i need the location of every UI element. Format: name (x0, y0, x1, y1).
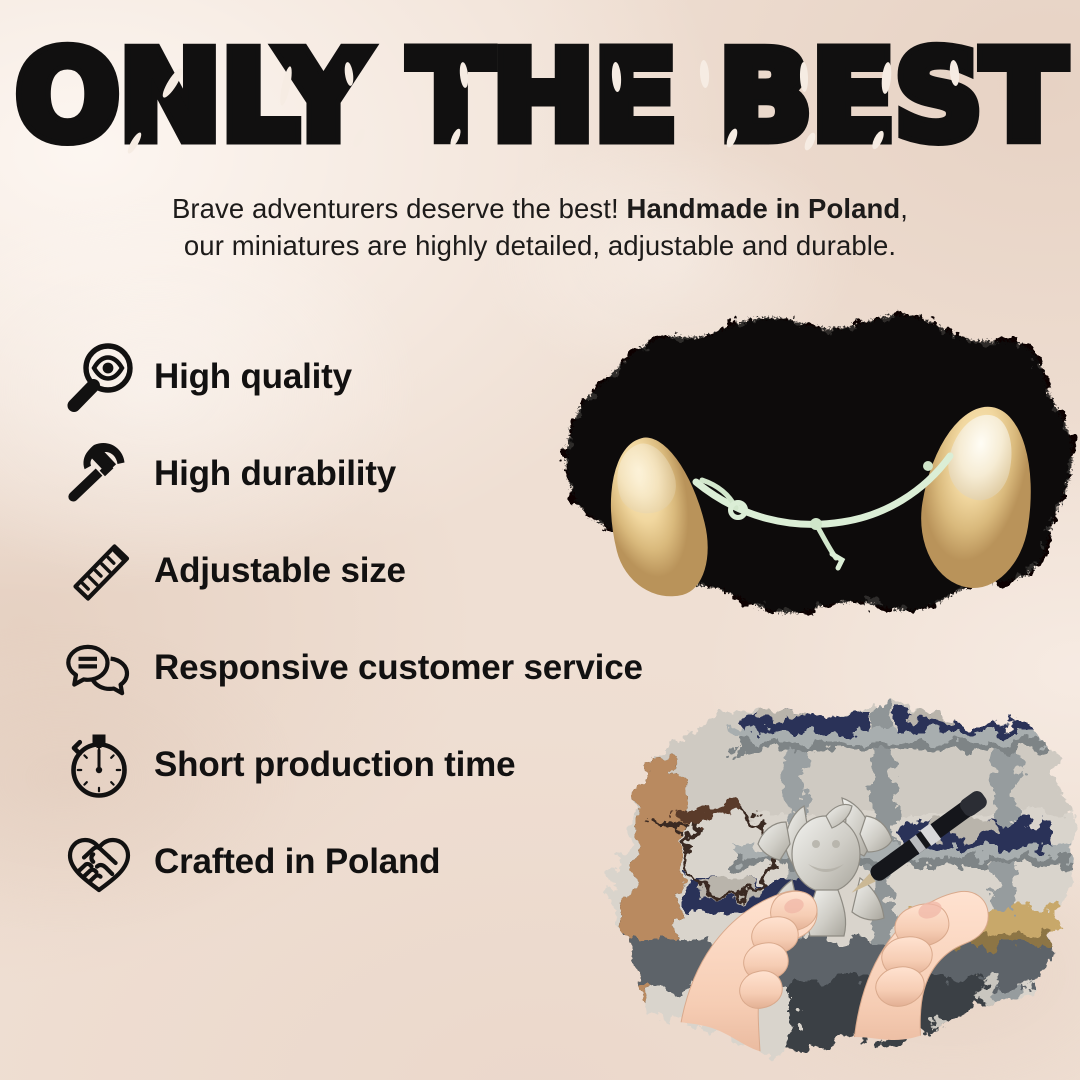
ruler-icon (62, 535, 140, 607)
subtitle-line1-bold: Handmade in Poland (627, 193, 901, 224)
subtitle: Brave adventurers deserve the best! Hand… (0, 190, 1080, 264)
fingers-bending-miniature-part-photo (524, 306, 1080, 628)
photo-bottom-subject (580, 694, 1080, 1080)
stopwatch-icon (62, 729, 140, 801)
handshake-heart-icon (62, 826, 140, 898)
speech-bubbles-icon (62, 632, 140, 704)
hammer-icon (62, 438, 140, 510)
page-title: ONLY THE BEST (0, 36, 1080, 159)
subtitle-line-1: Brave adventurers deserve the best! Hand… (0, 190, 1080, 227)
subtitle-line1-prefix: Brave adventurers deserve the best! (172, 193, 627, 224)
magnifier-eye-icon (62, 341, 140, 413)
feature-label: Short production time (154, 745, 515, 785)
subtitle-line-2: our miniatures are highly detailed, adju… (0, 227, 1080, 264)
feature-label: High quality (154, 357, 352, 397)
hands-crafting-dragon-miniature-photo (580, 694, 1080, 1080)
feature-label: Responsive customer service (154, 648, 643, 688)
infographic-canvas: ONLY THE BEST Brave adventurers deserve … (0, 0, 1080, 1080)
photo-top-subject (524, 306, 1080, 628)
subtitle-line1-suffix: , (900, 193, 908, 224)
feature-label: High durability (154, 454, 396, 494)
feature-label: Adjustable size (154, 551, 406, 591)
feature-label: Crafted in Poland (154, 842, 440, 882)
